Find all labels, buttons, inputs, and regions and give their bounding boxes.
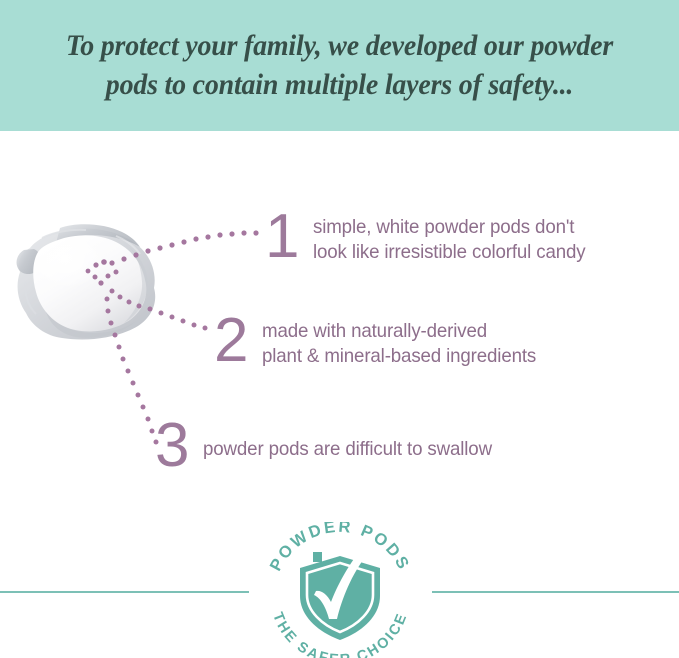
connector-dot-3 xyxy=(150,429,155,434)
divider-right xyxy=(432,591,679,593)
connector-dot-1 xyxy=(253,230,258,235)
list-item-3-number: 3 xyxy=(155,415,189,477)
connector-dot-3 xyxy=(117,345,122,350)
list-item-2: 2 made with naturally-derived plant & mi… xyxy=(214,308,548,372)
list-item-3: 3 powder pods are difficult to swallow xyxy=(155,413,504,477)
connector-dot-2 xyxy=(203,326,208,331)
connector-dot-1 xyxy=(229,231,234,236)
page-title-line-1: To protect your family, we developed our… xyxy=(44,26,635,65)
connector-dot-2 xyxy=(181,319,186,324)
connector-dot-1 xyxy=(193,236,198,241)
connector-dot-3 xyxy=(126,369,131,374)
header-band: To protect your family, we developed our… xyxy=(0,0,679,131)
list-item-2-line-2: plant & mineral-based ingredients xyxy=(262,344,536,369)
list-item-2-number: 2 xyxy=(214,310,248,372)
list-item-1-text: simple, white powder pods don't look lik… xyxy=(313,215,585,265)
connector-dot-1 xyxy=(241,230,246,235)
list-item-2-text: made with naturally-derived plant & mine… xyxy=(262,319,536,369)
connector-dot-3 xyxy=(121,357,126,362)
connector-dot-1 xyxy=(169,242,174,247)
list-item-1-line-2: look like irresistible colorful candy xyxy=(313,240,585,265)
pod-highlight xyxy=(36,242,112,298)
connector-dot-2 xyxy=(170,315,175,320)
connector-dot-1 xyxy=(181,239,186,244)
list-item-2-line-1: made with naturally-derived xyxy=(262,319,536,344)
divider-left xyxy=(0,591,249,593)
list-item-3-text: powder pods are difficult to swallow xyxy=(203,437,492,462)
powder-pods-badge: POWDER PODS THE SAFER CHOICE xyxy=(258,522,422,658)
powder-pod-icon xyxy=(12,210,160,345)
connector-dot-3 xyxy=(131,381,136,386)
connector-dot-1 xyxy=(205,234,210,239)
powder-pod-image xyxy=(12,210,160,345)
list-item-1: 1 simple, white powder pods don't look l… xyxy=(265,204,597,268)
connector-dot-1 xyxy=(217,232,222,237)
connector-dot-3 xyxy=(146,417,151,422)
list-item-3-line-1: powder pods are difficult to swallow xyxy=(203,437,492,462)
badge-graphic: POWDER PODS THE SAFER CHOICE xyxy=(258,522,422,658)
connector-dot-2 xyxy=(192,323,197,328)
page-title-line-2: pods to contain multiple layers of safet… xyxy=(44,65,635,104)
connector-dot-3 xyxy=(141,405,146,410)
list-item-1-line-1: simple, white powder pods don't xyxy=(313,215,585,240)
list-item-1-number: 1 xyxy=(265,206,299,268)
shield-notch xyxy=(313,552,322,562)
shield-check-icon xyxy=(300,552,380,640)
connector-dot-3 xyxy=(136,393,141,398)
infographic-page: To protect your family, we developed our… xyxy=(0,0,679,658)
page-title: To protect your family, we developed our… xyxy=(44,26,635,104)
